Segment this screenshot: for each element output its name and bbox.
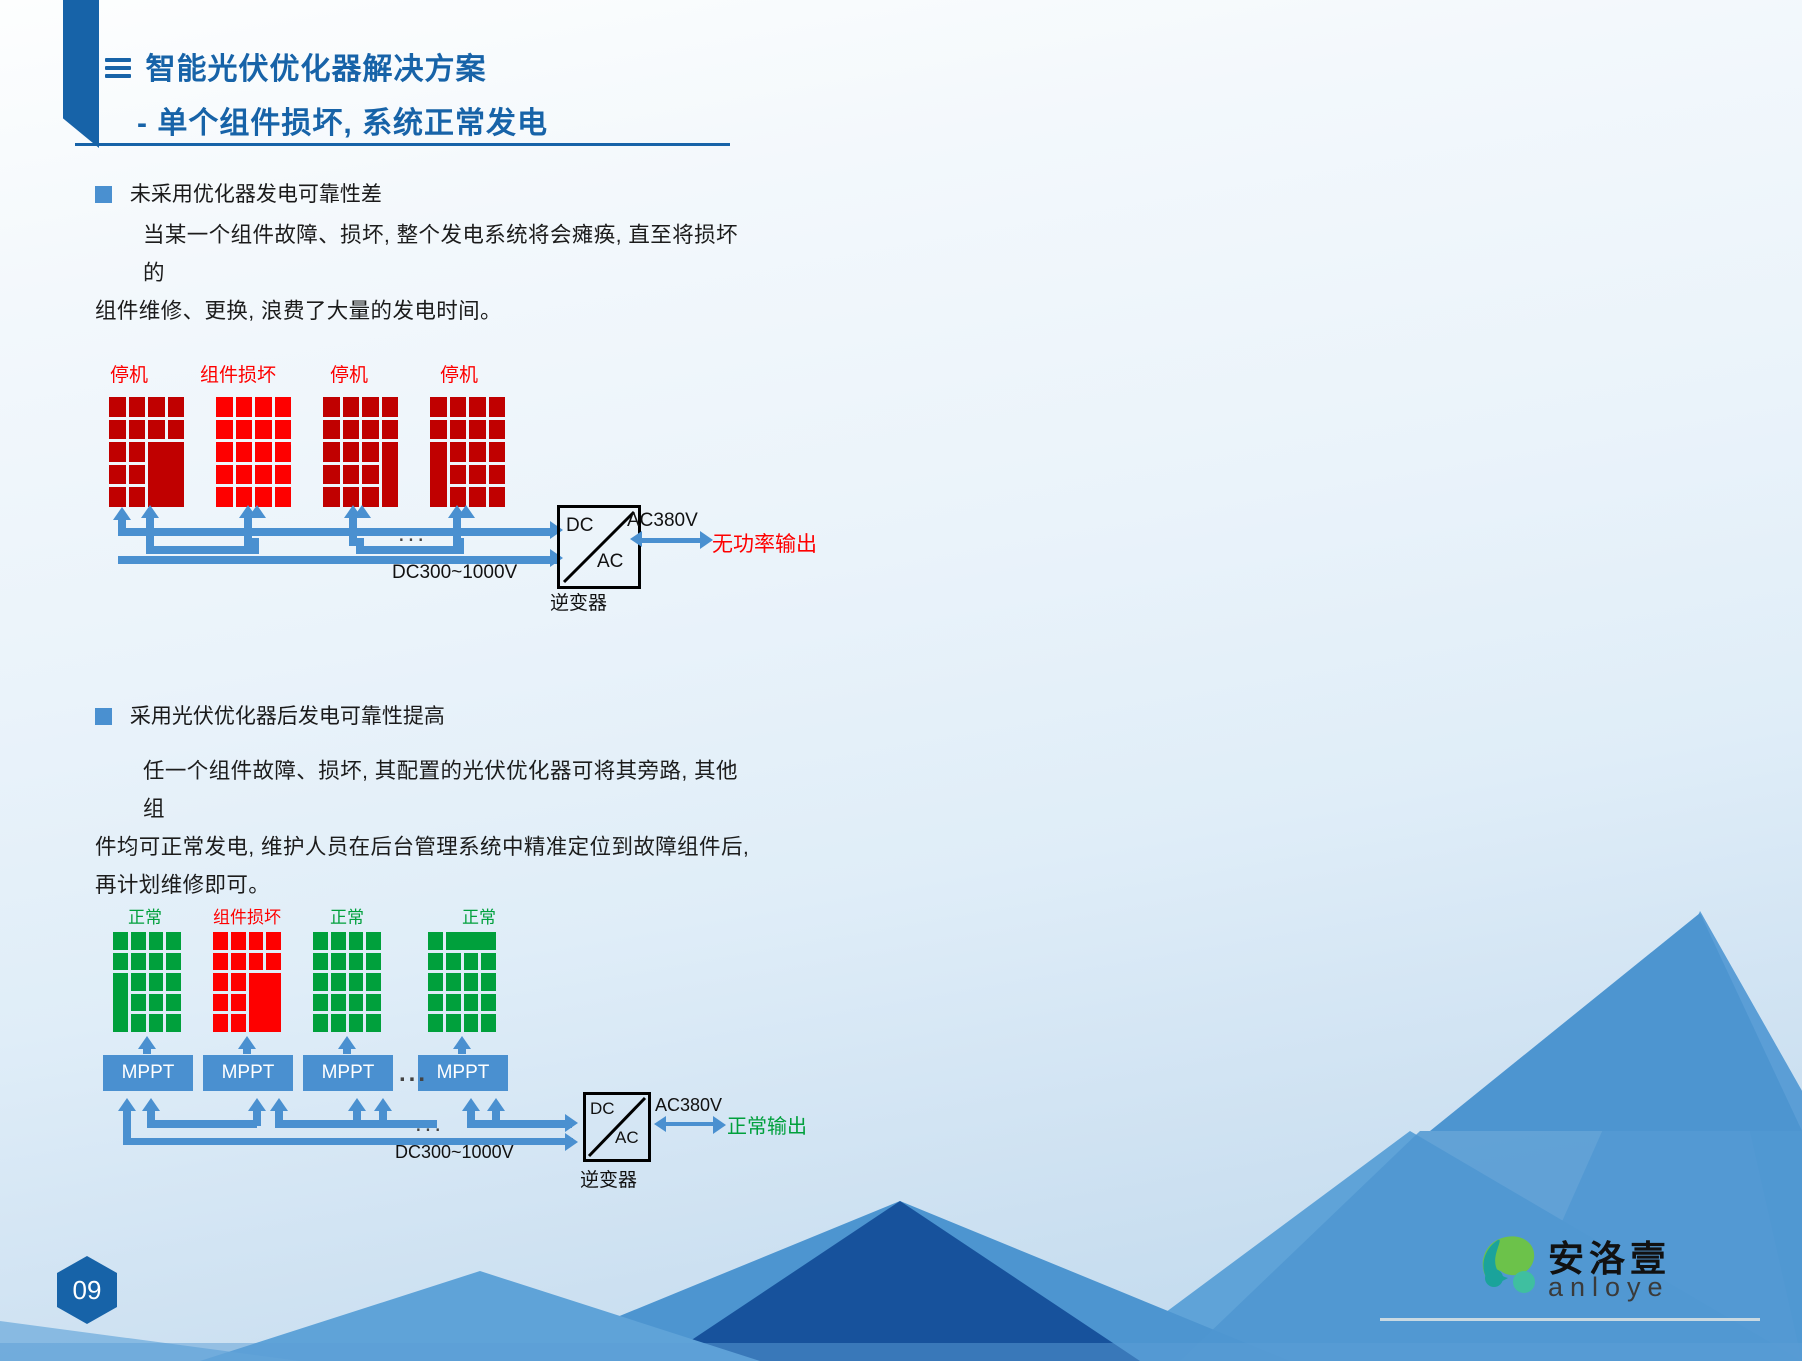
- logo-divider: [1380, 1318, 1760, 1321]
- section-2-heading: 采用光伏优化器后发电可靠性提高: [95, 700, 855, 730]
- section-2-heading-text: 采用光伏优化器后发电可靠性提高: [130, 705, 445, 728]
- pv-label-3: 停机: [330, 360, 368, 387]
- inverter-ac-label-1: AC: [597, 551, 623, 573]
- inverter-name-1: 逆变器: [550, 588, 607, 615]
- section-1-body: 当某一个组件故障、损坏, 整个发电系统将会瘫痪, 直至将损坏的 组件维修、更换,…: [95, 216, 755, 330]
- header-flag-accent: [63, 0, 99, 148]
- title-divider: [75, 143, 730, 146]
- pv-panel-1: [109, 397, 184, 507]
- page-subtitle: - 单个组件损坏, 系统正常发电: [137, 98, 825, 142]
- square-bullet-icon: [95, 708, 112, 725]
- section-with-optimizer: 采用光伏优化器后发电可靠性提高 任一个组件故障、损坏, 其配置的光伏优化器可将其…: [95, 700, 855, 904]
- section-2-body-line-2: 件均可正常发电, 维护人员在后台管理系统中精准定位到故障组件后,: [95, 828, 755, 866]
- page-header: 智能光伏优化器解决方案 - 单个组件损坏, 系统正常发电: [105, 50, 825, 142]
- pv-label-4: 停机: [440, 360, 478, 387]
- section-1-heading: 未采用优化器发电可靠性差: [95, 178, 855, 208]
- pv-label-1: 停机: [110, 360, 148, 387]
- diagram-1-ellipsis: ...: [398, 520, 427, 548]
- square-bullet-icon: [95, 186, 112, 203]
- pv-label-2: 组件损坏: [200, 360, 276, 387]
- section-1-heading-text: 未采用优化器发电可靠性差: [130, 183, 382, 206]
- pv-panel-4: [430, 397, 505, 507]
- hamburger-icon: [105, 58, 131, 82]
- company-logo: 安洛壹 anloye: [1478, 1228, 1758, 1308]
- leaf-logo-icon: [1478, 1232, 1542, 1298]
- ac-voltage-label-1: AC380V: [627, 510, 698, 532]
- dc-voltage-label-1: DC300~1000V: [392, 562, 517, 584]
- section-1-body-line-1: 当某一个组件故障、损坏, 整个发电系统将会瘫痪, 直至将损坏的: [95, 216, 755, 292]
- inverter-dc-label-1: DC: [566, 515, 593, 537]
- pv-panel-2-damaged: [216, 397, 291, 507]
- section-2-body-line-3: 再计划维修即可。: [95, 866, 755, 904]
- section-1-body-line-2: 组件维修、更换, 浪费了大量的发电时间。: [95, 292, 755, 330]
- logo-english-name: anloye: [1548, 1272, 1670, 1303]
- inverter-box-1: [557, 505, 641, 589]
- page-title: 智能光伏优化器解决方案: [145, 50, 486, 90]
- section-2-body-line-1: 任一个组件故障、损坏, 其配置的光伏优化器可将其旁路, 其他组: [95, 752, 755, 828]
- output-label-1: 无功率输出: [712, 528, 817, 558]
- section-without-optimizer: 未采用优化器发电可靠性差 当某一个组件故障、损坏, 整个发电系统将会瘫痪, 直至…: [95, 178, 855, 330]
- pv-panel-3: [323, 397, 398, 507]
- inverter-slash-icon: [560, 508, 638, 586]
- section-2-body: 任一个组件故障、损坏, 其配置的光伏优化器可将其旁路, 其他组 件均可正常发电,…: [95, 752, 755, 904]
